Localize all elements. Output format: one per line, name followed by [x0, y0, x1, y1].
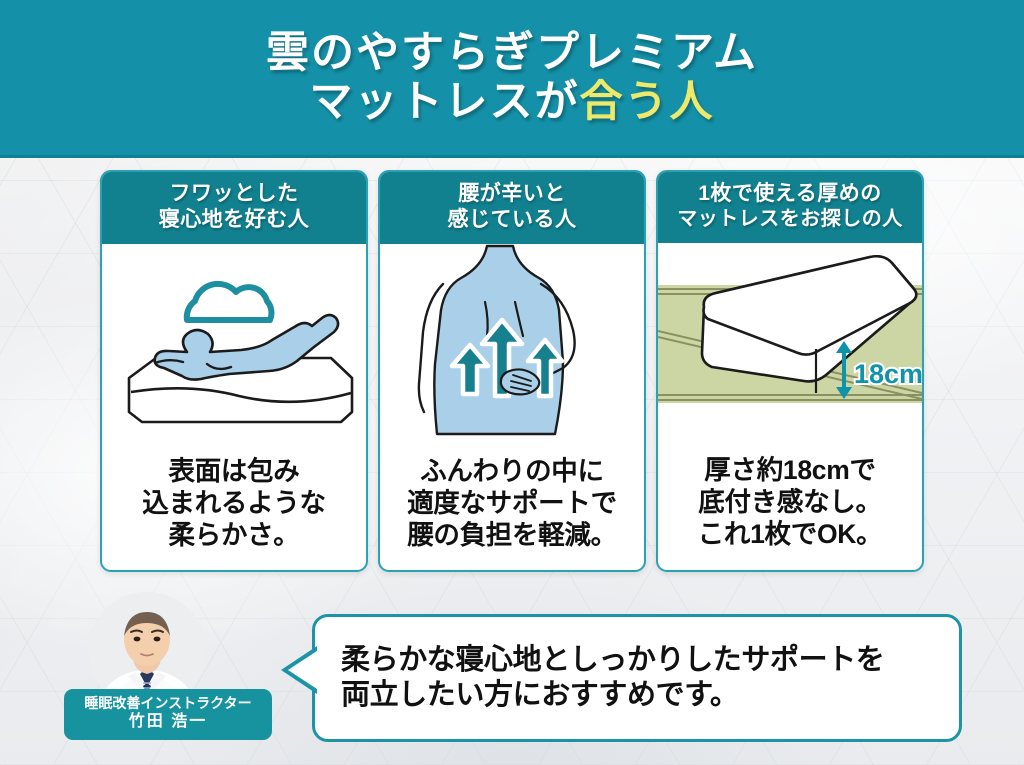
thickness-label: 18cm — [854, 359, 922, 389]
speech-bubble-tail-fill — [288, 649, 320, 691]
card-title-line1: 腰が辛いと — [384, 181, 640, 207]
card-caption: 表面は包み 込まれるような 柔らかさ。 — [102, 438, 366, 570]
card-caption-line1: ふんわりの中に — [407, 455, 617, 487]
expert-block: 睡眠改善インストラクター 竹田 浩一 — [64, 592, 314, 762]
header-title-plain: マットレスが — [310, 78, 580, 126]
card-caption-line3: これ1枚でOK。 — [698, 518, 883, 550]
card-caption-line3: 柔らかさ。 — [142, 519, 325, 551]
card-caption-line3: 腰の負担を軽減。 — [407, 519, 617, 551]
card-title-line1: 1枚で使える厚めの — [662, 181, 918, 207]
benefit-cards-row: フワッとした 寝心地を好む人 表面は包み 込まれるような 柔らかさ。 — [0, 170, 1024, 574]
speech-bubble: 柔らかな寝心地としっかりしたサポートを 両立したい方におすすめです。 — [312, 614, 962, 742]
card-caption-line2: 適度なサポートで — [407, 487, 617, 519]
card-illustration — [380, 244, 644, 438]
card-title-line2: マットレスをお探しの人 — [662, 207, 918, 232]
card-caption: 厚さ約18cmで 底付き感なし。 これ1枚でOK。 — [658, 437, 922, 570]
card-header: フワッとした 寝心地を好む人 — [102, 172, 366, 244]
page-header: 雲のやすらぎプレミアム マットレスが合う人 — [0, 0, 1024, 158]
card-caption-line2: 込まれるような — [142, 487, 325, 519]
expert-name: 竹田 浩一 — [68, 712, 268, 733]
card-lower-back-relief[interactable]: 腰が辛いと 感じている人 — [378, 170, 646, 572]
card-caption-line2: 底付き感なし。 — [698, 486, 883, 518]
speech-bubble-text: 柔らかな寝心地としっかりしたサポートを 両立したい方におすすめです。 — [315, 643, 884, 714]
card-title-line2: 寝心地を好む人 — [106, 207, 362, 233]
card-thick-single-mattress[interactable]: 1枚で使える厚めの マットレスをお探しの人 18cm — [656, 170, 924, 572]
card-caption-line1: 表面は包み — [142, 455, 325, 487]
bubble-line1: 柔らかな寝心地としっかりしたサポートを — [341, 643, 884, 678]
header-title-line2: マットレスが合う人 — [310, 78, 715, 126]
expert-role: 睡眠改善インストラクター — [68, 694, 268, 712]
card-caption: ふんわりの中に 適度なサポートで 腰の負担を軽減。 — [380, 438, 644, 570]
card-caption-line1: 厚さ約18cmで — [698, 454, 883, 486]
cloud-and-sleeping-person-on-mattress-icon — [109, 246, 359, 436]
expert-name-badge: 睡眠改善インストラクター 竹田 浩一 — [64, 689, 272, 740]
mattress-on-tatami-thickness-icon: 18cm — [658, 245, 922, 435]
header-title-highlight: 合う人 — [580, 78, 715, 126]
lower-back-support-arrows-icon — [387, 244, 637, 438]
card-illustration — [102, 244, 366, 438]
card-title-line1: フワッとした — [106, 181, 362, 207]
card-soft-sleep-feel[interactable]: フワッとした 寝心地を好む人 表面は包み 込まれるような 柔らかさ。 — [100, 170, 368, 572]
bubble-line2: 両立したい方におすすめです。 — [341, 678, 884, 713]
header-title-line1: 雲のやすらぎプレミアム — [266, 29, 758, 77]
card-header: 1枚で使える厚めの マットレスをお探しの人 — [658, 172, 922, 243]
card-header: 腰が辛いと 感じている人 — [380, 172, 644, 244]
card-illustration: 18cm — [658, 243, 922, 437]
card-title-line2: 感じている人 — [384, 207, 640, 233]
